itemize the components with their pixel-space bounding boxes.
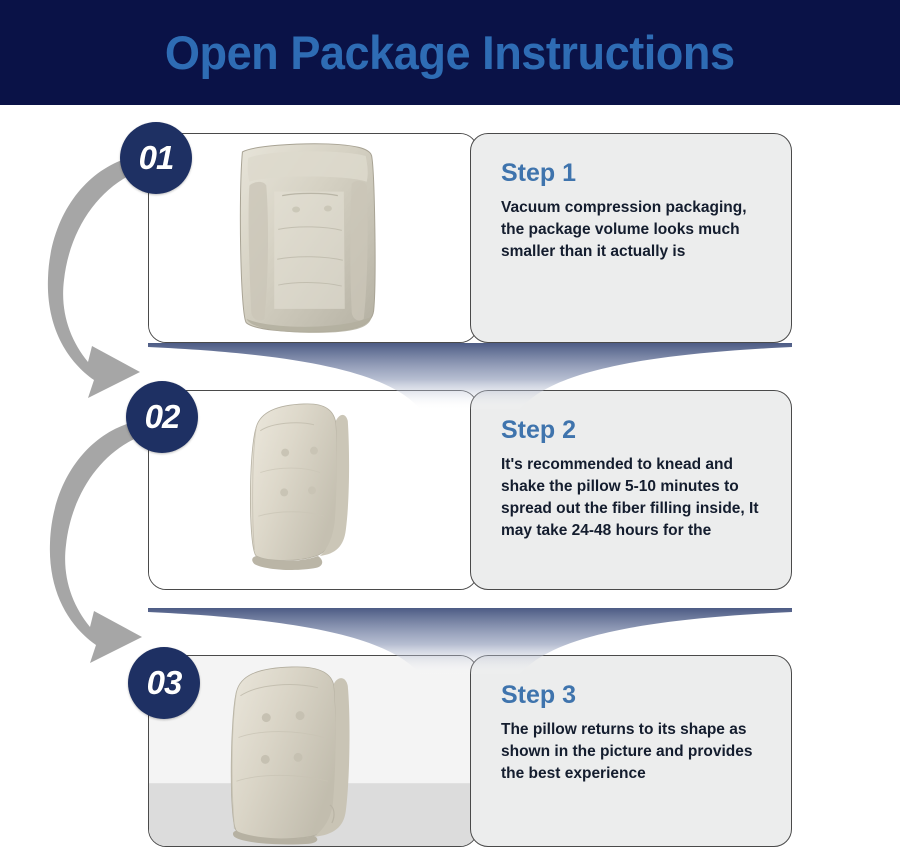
infographic-page: Open Package Instructions [0, 0, 900, 860]
arrow-step2-to-step3-icon [30, 415, 190, 670]
step-heading-2: Step 2 [501, 417, 769, 445]
funnel-connector-2 [148, 608, 792, 674]
step-text-card-1: Step 1 Vacuum compression packaging, the… [470, 133, 792, 343]
step-badge-2-label: 02 [145, 398, 180, 436]
step-body-1: Vacuum compression packaging, the packag… [501, 197, 769, 263]
partially-expanded-wedge-pillow-photo [149, 391, 477, 590]
step-badge-2: 02 [126, 381, 198, 453]
step-badge-1: 01 [120, 122, 192, 194]
step-body-2: It's recommended to knead and shake the … [501, 454, 769, 542]
step-badge-3: 03 [128, 647, 200, 719]
page-title: Open Package Instructions [165, 29, 735, 76]
step-heading-1: Step 1 [501, 160, 769, 188]
step-image-card-1 [148, 133, 478, 343]
step-heading-3: Step 3 [501, 682, 769, 710]
step-badge-3-label: 03 [147, 664, 182, 702]
step-text-card-2: Step 2 It's recommended to knead and sha… [470, 390, 792, 590]
step-text-card-3: Step 3 The pillow returns to its shape a… [470, 655, 792, 847]
funnel-connector-1 [148, 343, 792, 409]
vacuum-compressed-package-photo [149, 134, 477, 343]
page-header: Open Package Instructions [0, 0, 900, 105]
step-badge-1-label: 01 [139, 139, 174, 177]
step-body-3: The pillow returns to its shape as shown… [501, 719, 769, 785]
